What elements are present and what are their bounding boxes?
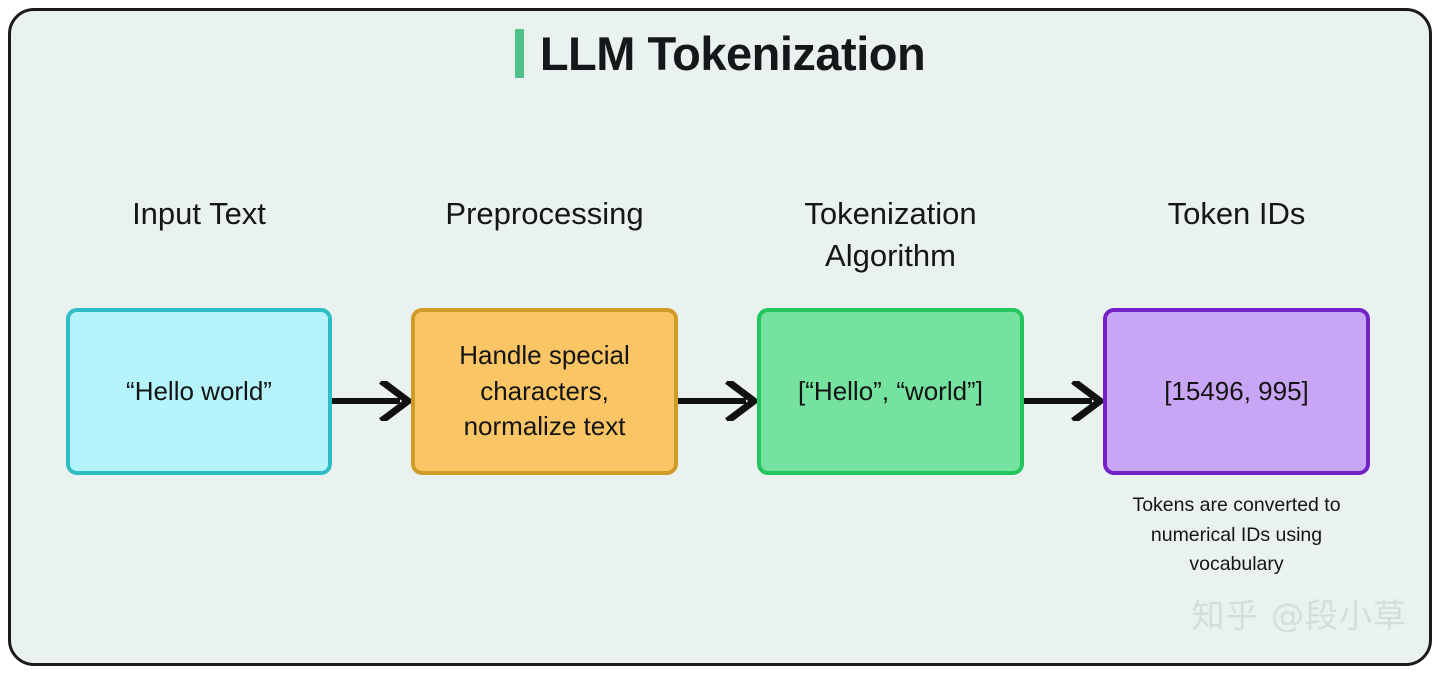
stage-label-input-text: Input Text	[66, 193, 332, 235]
stage-caption-token-ids: Tokens are converted to numerical IDs us…	[1099, 491, 1374, 580]
arrow-tokenization-to-tokenids	[1024, 381, 1103, 421]
stage-box-text-preprocessing: Handle special characters, normalize tex…	[449, 338, 640, 445]
stage-box-input-text[interactable]: “Hello world”	[66, 308, 332, 475]
arrow-input-to-preprocessing	[332, 381, 411, 421]
stage-label-tokenization-algorithm: Tokenization Algorithm	[757, 193, 1024, 277]
stage-box-text-input-text: “Hello world”	[116, 374, 282, 410]
diagram-canvas: LLM Tokenization Input Text “Hello world…	[8, 8, 1432, 666]
stage-box-tokenization-algorithm[interactable]: [“Hello”, “world”]	[757, 308, 1024, 475]
stage-box-token-ids[interactable]: [15496, 995]	[1103, 308, 1370, 475]
page-title: LLM Tokenization	[11, 29, 1429, 78]
watermark: 知乎 @段小草	[1192, 589, 1408, 637]
arrow-preprocessing-to-tokenization	[678, 381, 757, 421]
title-label: LLM Tokenization	[540, 30, 925, 77]
stage-label-token-ids: Token IDs	[1103, 193, 1370, 235]
stage-label-preprocessing: Preprocessing	[411, 193, 678, 235]
stage-box-preprocessing[interactable]: Handle special characters, normalize tex…	[411, 308, 678, 475]
title-accent-bar	[515, 29, 524, 78]
stage-box-text-tokenization-algorithm: [“Hello”, “world”]	[788, 374, 993, 410]
stage-box-text-token-ids: [15496, 995]	[1154, 374, 1319, 410]
